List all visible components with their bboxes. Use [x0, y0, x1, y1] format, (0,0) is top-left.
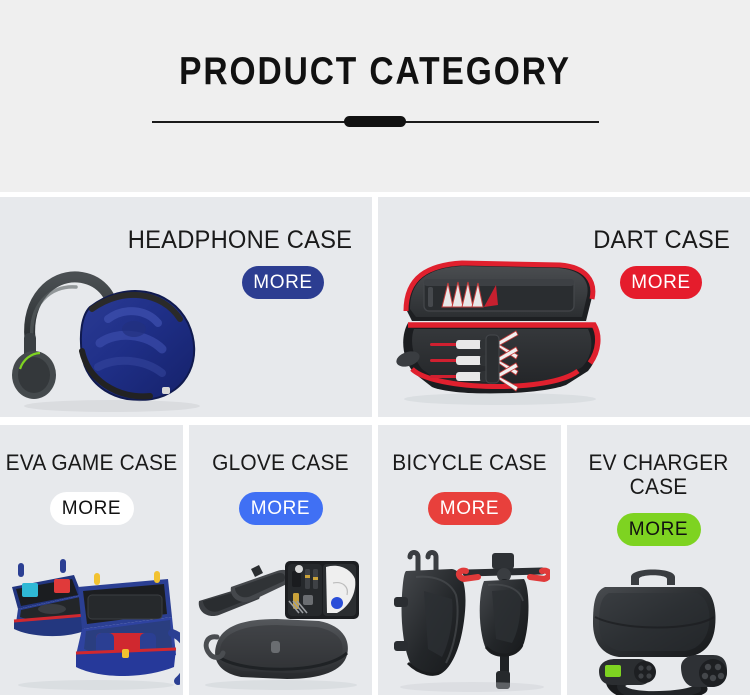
category-card-eva-game-case[interactable]: EVA GAME CASE MORE: [0, 425, 183, 695]
category-card-ev-charger-case[interactable]: EV CHARGER CASE MORE: [567, 425, 750, 695]
category-title-glove-case: GLOVE CASE: [194, 451, 368, 475]
more-button-eva-game-case[interactable]: MORE: [50, 492, 134, 525]
category-title-headphone-case: HEADPHONE CASE: [128, 227, 352, 254]
category-card-bicycle-case[interactable]: BICYCLE CASE MORE: [378, 425, 561, 695]
headphone-case-product-photo: [12, 247, 222, 412]
product-category-page: PRODUCT CATEGORY HEADPHONE CASE MORE: [0, 0, 750, 695]
category-row-bottom: EVA GAME CASE MORE: [0, 425, 750, 695]
category-card-dart-case[interactable]: DART CASE MORE: [378, 197, 750, 417]
category-title-eva-game-case: EVA GAME CASE: [5, 451, 179, 475]
glove-case-product-photo: [197, 555, 365, 693]
category-title-dart-case: DART CASE: [593, 227, 730, 254]
bicycle-case-product-photo: [392, 543, 550, 693]
more-button-ev-charger-case[interactable]: MORE: [617, 513, 701, 546]
header-divider: [152, 116, 599, 128]
page-header: PRODUCT CATEGORY: [0, 0, 750, 192]
more-button-glove-case[interactable]: MORE: [239, 492, 323, 525]
more-button-headphone-case[interactable]: MORE: [242, 266, 324, 299]
category-card-headphone-case[interactable]: HEADPHONE CASE MORE: [0, 197, 372, 417]
dart-case-product-photo: [390, 249, 610, 409]
category-title-ev-charger-case: EV CHARGER CASE: [572, 451, 746, 499]
ev-charger-case-product-photo: [583, 561, 735, 695]
category-title-bicycle-case: BICYCLE CASE: [383, 451, 557, 475]
page-title: PRODUCT CATEGORY: [53, 52, 698, 91]
eva-game-case-product-photo: [6, 543, 180, 693]
category-row-top: HEADPHONE CASE MORE: [0, 197, 750, 417]
more-button-bicycle-case[interactable]: MORE: [428, 492, 512, 525]
divider-knob-icon: [344, 116, 406, 127]
more-button-dart-case[interactable]: MORE: [620, 266, 702, 299]
category-card-glove-case[interactable]: GLOVE CASE MORE: [189, 425, 372, 695]
